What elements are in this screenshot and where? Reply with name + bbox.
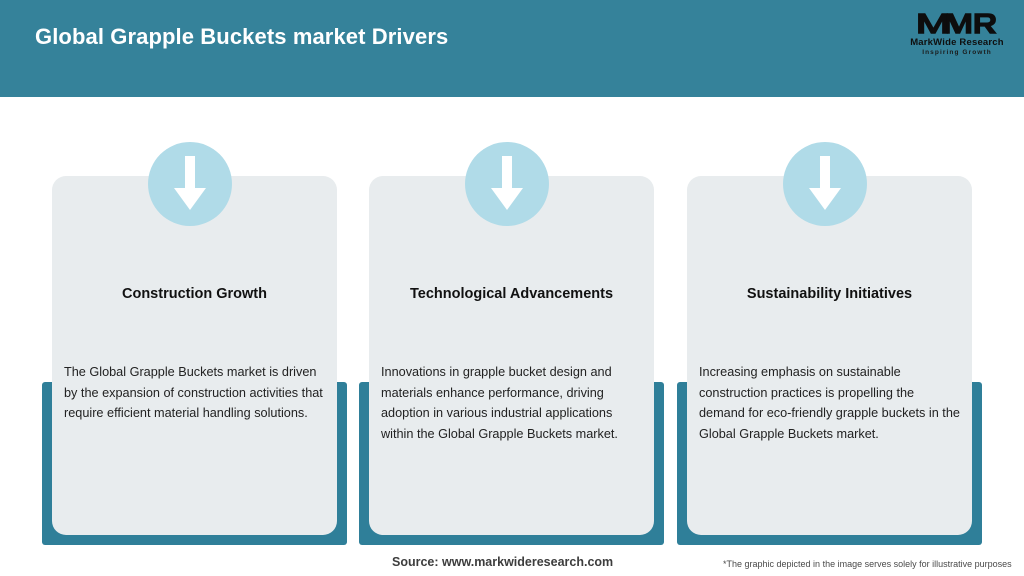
card-panel: Technological Advancements Innovations i… <box>369 176 654 535</box>
down-arrow-icon <box>172 156 208 212</box>
down-arrow-icon <box>489 156 525 212</box>
card-badge <box>148 142 232 226</box>
footer-source: Source: www.markwideresearch.com <box>392 555 613 569</box>
card-body-text: Increasing emphasis on sustainable const… <box>699 362 962 444</box>
down-arrow-icon <box>807 156 843 212</box>
driver-card-1: Construction Growth The Global Grapple B… <box>52 142 337 546</box>
card-title: Construction Growth <box>66 286 323 303</box>
card-badge <box>465 142 549 226</box>
card-panel: Sustainability Initiatives Increasing em… <box>687 176 972 535</box>
card-body-text: The Global Grapple Buckets market is dri… <box>64 362 327 424</box>
driver-card-2: Technological Advancements Innovations i… <box>369 142 654 546</box>
card-panel: Construction Growth The Global Grapple B… <box>52 176 337 535</box>
driver-cards-container: Construction Growth The Global Grapple B… <box>0 0 1024 576</box>
card-title: Sustainability Initiatives <box>701 286 958 303</box>
driver-card-3: Sustainability Initiatives Increasing em… <box>687 142 972 546</box>
card-title: Technological Advancements <box>383 286 640 303</box>
card-body-text: Innovations in grapple bucket design and… <box>381 362 644 444</box>
footer-disclaimer: *The graphic depicted in the image serve… <box>723 559 1012 569</box>
card-badge <box>783 142 867 226</box>
